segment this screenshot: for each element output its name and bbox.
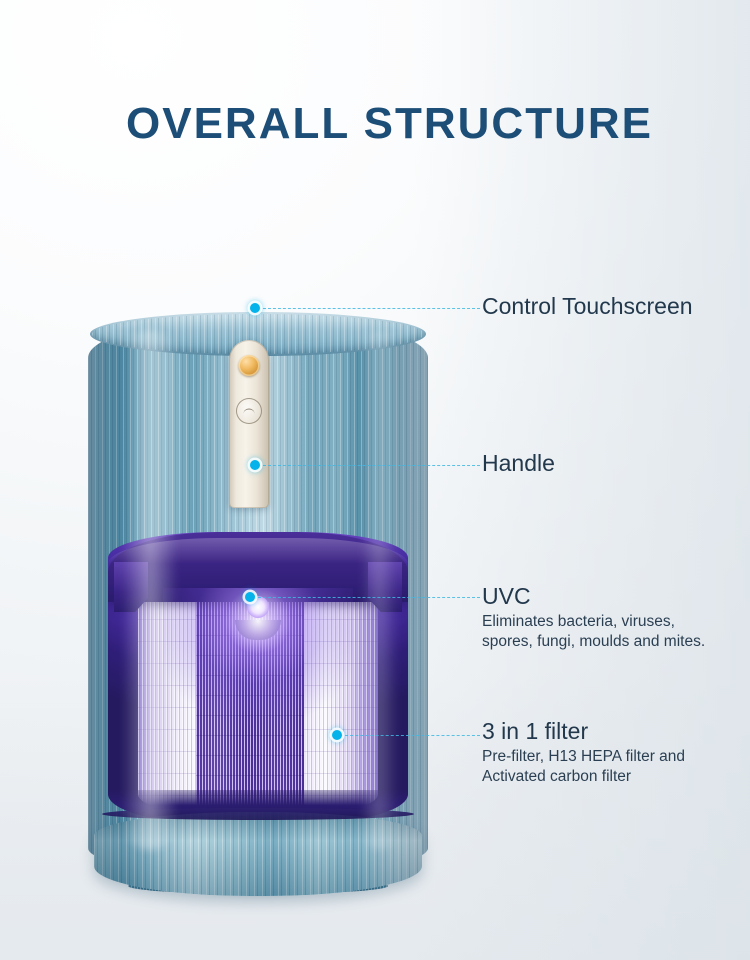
callout-title-control-touchscreen: Control Touchscreen [482,293,693,319]
infographic-page: OVERALL STRUCTURE [0,0,750,960]
emblem-chevron-icon [244,409,255,414]
page-title: OVERALL STRUCTURE [126,99,653,149]
callout-title-three-in-one-filter: 3 in 1 filter [482,718,685,744]
callout-subtitle-filter-line1: Pre-filter, H13 HEPA filter and [482,747,685,767]
uvc-shroud-collar [108,532,408,602]
callout-three-in-one-filter: 3 in 1 filter Pre-filter, H13 HEPA filte… [482,718,685,787]
brass-rivet-icon [239,355,260,376]
base-seam [102,808,414,820]
callout-dot-three-in-one-filter[interactable] [332,730,342,740]
callout-subtitle-uvc-line1: Eliminates bacteria, viruses, [482,612,705,632]
handle-strap[interactable] [229,340,269,508]
callout-title-handle: Handle [482,450,555,476]
leader-line-control-touchscreen [258,308,480,309]
leader-line-uvc [253,597,480,598]
product-image-air-purifier [88,300,428,890]
callout-uvc: UVC Eliminates bacteria, viruses, spores… [482,583,705,652]
callout-subtitle-filter-line2: Activated carbon filter [482,767,685,787]
leader-line-handle [258,465,480,466]
callout-dot-uvc[interactable] [245,592,255,602]
embossed-emblem-icon [236,398,262,424]
callout-title-uvc: UVC [482,583,705,609]
purifier-base-ring [94,812,422,896]
uvc-chamber-window [108,532,408,824]
callout-subtitle-uvc-line2: spores, fungi, moulds and mites. [482,632,705,652]
callout-control-touchscreen: Control Touchscreen [482,293,693,319]
callout-dot-handle[interactable] [250,460,260,470]
callout-handle: Handle [482,450,555,476]
leader-line-three-in-one-filter [340,735,480,736]
callout-dot-control-touchscreen[interactable] [250,303,260,313]
